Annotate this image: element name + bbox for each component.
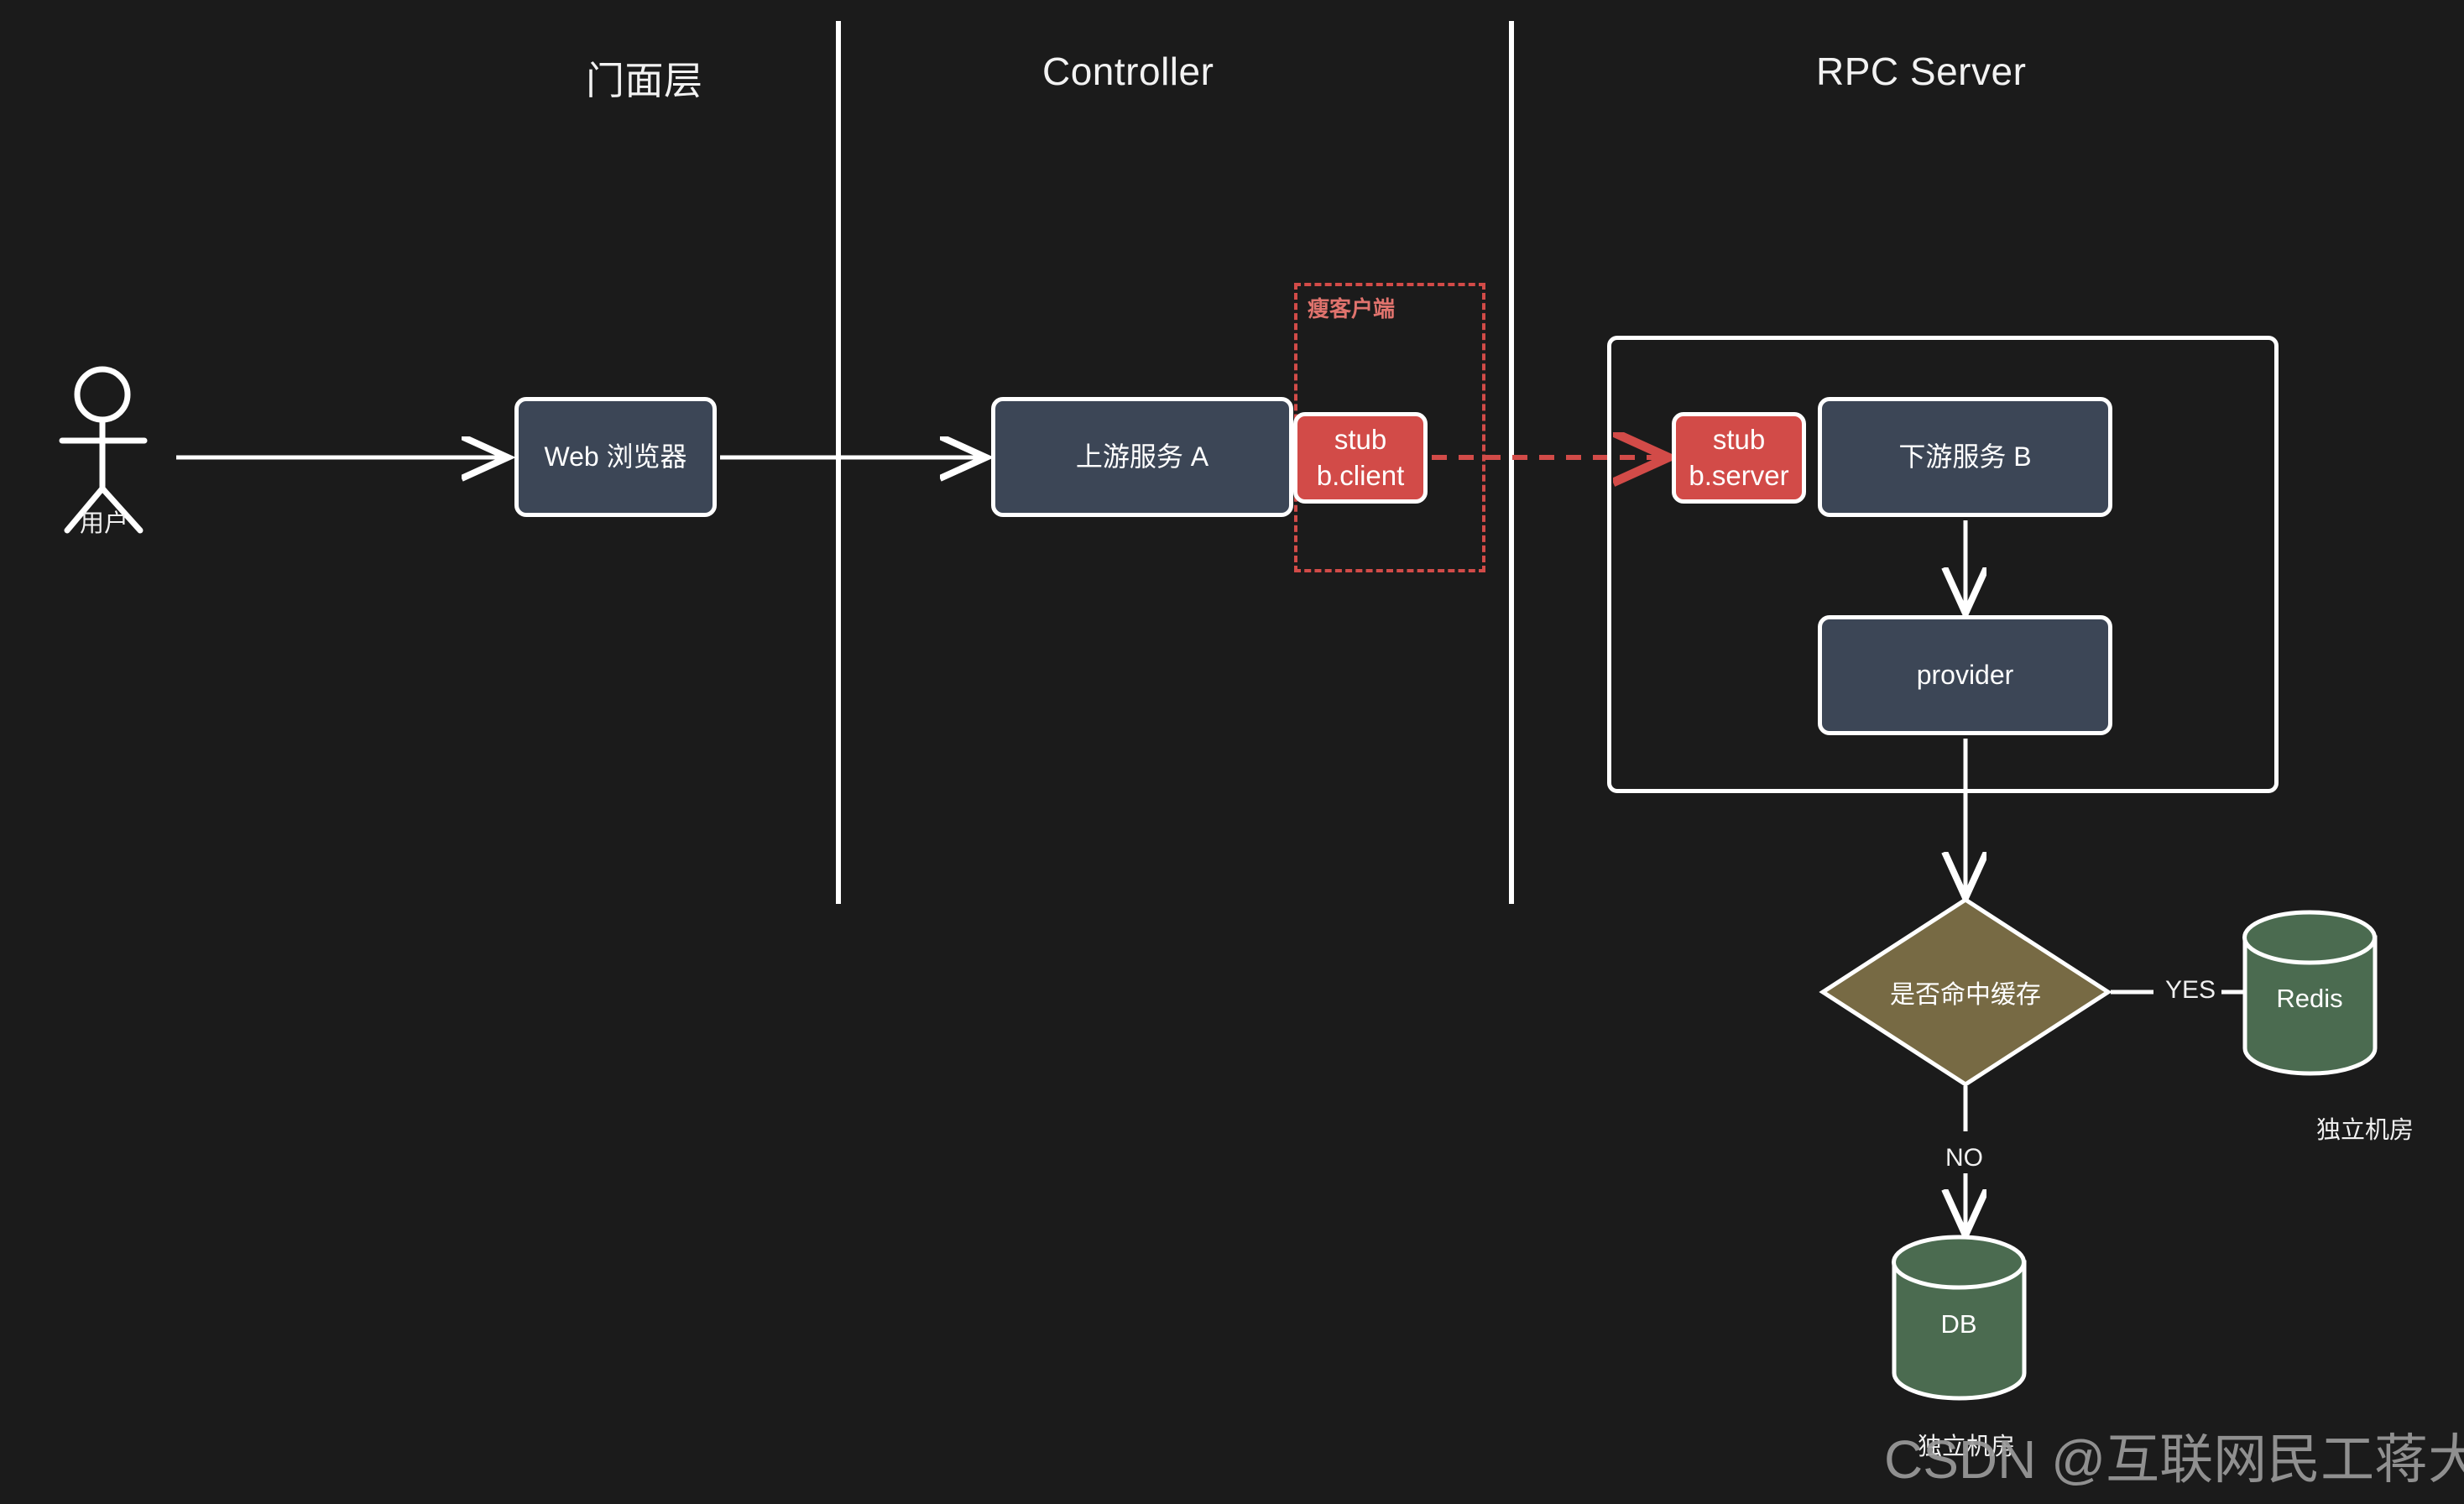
user-actor-label: 用户 (80, 504, 128, 539)
lane-title-facade: 门面层 (586, 50, 703, 106)
node-web-browser[interactable]: Web 浏览器 (514, 397, 717, 517)
node-stub-b-server[interactable]: stub b.server (1672, 412, 1806, 504)
lane-title-controller: Controller (1042, 49, 1214, 94)
db-store-label: DB (1940, 1309, 1976, 1339)
yes-edge-label: YES (2165, 976, 2216, 1005)
redis-store-caption: 独立机房 (2316, 1110, 2414, 1146)
no-edge-label: NO (1945, 1144, 1983, 1172)
node-downstream-service-b[interactable]: 下游服务 B (1818, 397, 2112, 517)
cache-hit-decision-label: 是否命中缓存 (1890, 974, 2041, 1010)
node-upstream-service-a[interactable]: 上游服务 A (991, 397, 1293, 517)
redis-store-label: Redis (2276, 984, 2342, 1014)
lane-title-rpc-server: RPC Server (1816, 49, 2026, 94)
node-provider[interactable]: provider (1818, 615, 2112, 735)
node-stub-b-client[interactable]: stub b.client (1293, 412, 1428, 504)
thin-client-group-label: 瘦客户端 (1308, 292, 1395, 323)
csdn-watermark: CSDN @互联网民工蒋大钊 (1884, 1417, 2464, 1494)
